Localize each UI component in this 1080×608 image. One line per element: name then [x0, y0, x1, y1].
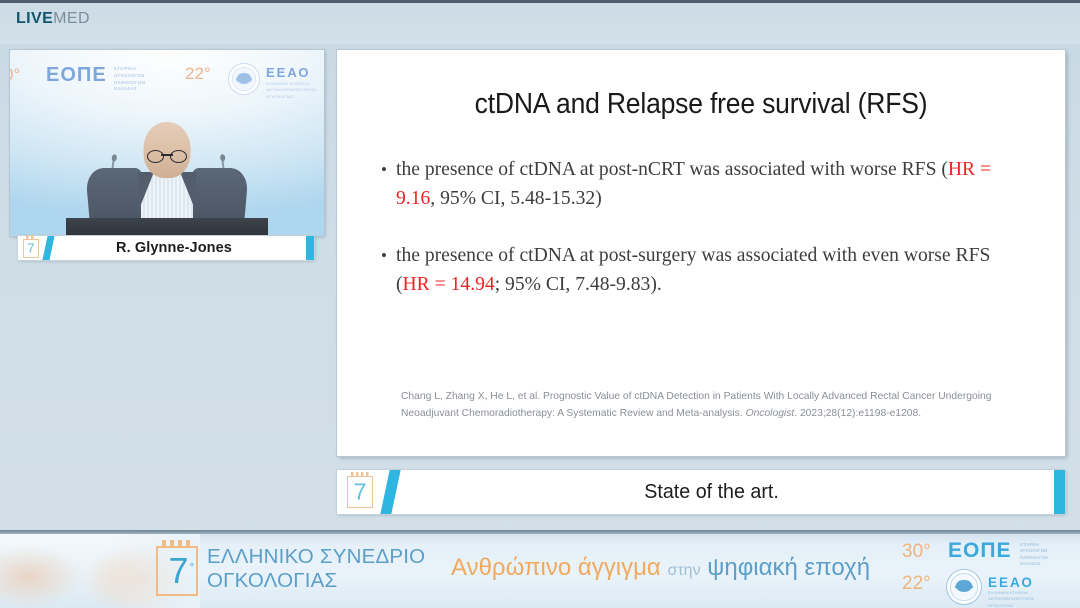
eeao-subtitle: ΕΛΛΗΝΙΚΗ ΕΤΑΙΡΕΙΑ ΑΚΤΙΝΟΘΕΡΑΠΕΥΤΙΚΗΣ ΟΓΚ…	[988, 590, 1034, 608]
eope-mark: ΕΟΠΕ	[948, 540, 1012, 561]
bullet-text-pre: the presence of ctDNA at post-nCRT was a…	[396, 159, 948, 180]
congress-title: ΕΛΛΗΝΙΚΟ ΣΥΝΕΔΡΙΟ ΟΓΚΟΛΟΓΙΑΣ	[207, 545, 425, 593]
slide-bullet-list: • the presence of ctDNA at post-nCRT was…	[381, 156, 1025, 328]
section-caption-bar: 7 State of the art.	[337, 470, 1065, 514]
theme-blue-text: ψηφιακή εποχή	[707, 554, 870, 581]
slide-title: ctDNA and Relapse free survival (RFS)	[362, 88, 1039, 121]
caption-accent-stripe	[380, 470, 400, 514]
footer-logo-eope: 30° ΕΟΠΕ ΕΤΑΙΡΕΙΑ ΟΓΚΟΛΟΓΩΝ ΠΑΘΟΛΟΓΩΝ ΕΛ…	[902, 540, 1072, 570]
top-divider	[0, 0, 1080, 3]
bullet-marker: •	[381, 156, 396, 214]
citation-part-two: . 2023;28(12):e1198-e1208.	[794, 408, 921, 419]
bullet-marker: •	[381, 242, 396, 300]
bullet-text: the presence of ctDNA at post-surgery wa…	[396, 242, 1025, 300]
eeao-edition-number: 22°	[902, 574, 931, 593]
crest-digit: 7	[348, 481, 372, 504]
bullet-text: the presence of ctDNA at post-nCRT was a…	[396, 156, 1025, 214]
backdrop-eope-mark: ΕΟΠΕ	[46, 65, 107, 85]
backdrop-right-number: 22°	[185, 65, 211, 82]
backdrop-eope-subtitle: ΕΤΑΙΡΕΙΑ ΟΓΚΟΛΟΓΩΝ ΠΑΘΟΛΟΓΩΝ ΕΛΛΑΔΑΣ	[114, 66, 145, 93]
crab-body-shape	[237, 73, 251, 84]
list-item: • the presence of ctDNA at post-nCRT was…	[381, 156, 1025, 214]
congress-theme: Ανθρώπινο άγγιγμα στην ψηφιακή εποχή	[451, 556, 870, 580]
video-backdrop-logos: 0° ΕΟΠΕ ΕΤΑΙΡΕΙΑ ΟΓΚΟΛΟΓΩΝ ΠΑΘΟΛΟΓΩΝ ΕΛΛ…	[10, 56, 324, 96]
backdrop-left-number: 0°	[10, 66, 20, 83]
backdrop-eeao-mark: ΕΕΑΟ	[266, 66, 311, 79]
congress-crest-degree: °	[190, 562, 194, 574]
crest-icon: 7	[347, 476, 373, 508]
footer-logo-group: 30° ΕΟΠΕ ΕΤΑΙΡΕΙΑ ΟΓΚΟΛΟΓΩΝ ΠΑΘΟΛΟΓΩΝ ΕΛ…	[902, 538, 1072, 604]
eeao-mark: ΕΕΑΟ	[988, 576, 1034, 590]
speaker-video[interactable]: 0° ΕΟΠΕ ΕΤΑΙΡΕΙΑ ΟΓΚΟΛΟΓΩΝ ΠΑΘΟΛΟΓΩΝ ΕΛΛ…	[10, 50, 324, 236]
congress-footer-banner: 7 ° ΕΛΛΗΝΙΚΟ ΣΥΝΕΔΡΙΟ ΟΓΚΟΛΟΓΙΑΣ Ανθρώπι…	[0, 530, 1080, 608]
theme-small-text: στην	[667, 562, 700, 579]
bullet-text-post: ; 95% CI, 7.48-9.83).	[495, 274, 662, 295]
backdrop-eeao-subtitle: ΕΛΛΗΝΙΚΗ ΕΤΑΙΡΕΙΑ ΑΚΤΙΝΟΘΕΡΑΠΕΥΤΙΚΗΣ ΟΓΚ…	[266, 81, 316, 100]
crest-digit: 7	[24, 242, 38, 255]
logo-live-text: LIVE	[16, 10, 53, 27]
podium	[66, 218, 268, 236]
caption-endcap	[1054, 470, 1065, 514]
congress-crest-icon: 7 °	[156, 546, 198, 596]
slide-citation: Chang L, Zhang X, He L, et al. Prognosti…	[401, 389, 1019, 422]
crest-icon: 7	[23, 239, 39, 258]
speaker-collar-right	[180, 172, 196, 212]
caption-label: State of the art.	[409, 480, 1041, 504]
badge-endcap	[306, 236, 314, 260]
logo-med-text: MED	[53, 10, 90, 27]
bullet-hazard-ratio: HR = 14.94	[403, 274, 495, 295]
eope-edition-number: 30°	[902, 542, 931, 561]
crab-body-shape	[956, 580, 972, 592]
speaker-name-badge: 7 R. Glynne-Jones	[18, 236, 314, 260]
badge-crest-logo: 7	[18, 236, 44, 260]
bullet-text-post: , 95% CI, 5.48-15.32)	[430, 188, 601, 209]
list-item: • the presence of ctDNA at post-surgery …	[381, 242, 1025, 300]
caption-crest-logo: 7	[337, 470, 383, 514]
player-page: LIVEMED 0° ΕΟΠΕ ΕΤΑΙΡΕΙΑ ΟΓΚΟΛΟΓΩΝ ΠΑΘΟΛ…	[0, 0, 1080, 608]
speaker-collar-left	[138, 172, 154, 212]
glasses-bridge	[161, 154, 173, 156]
crab-seal-icon	[228, 63, 260, 95]
theme-orange-text: Ανθρώπινο άγγιγμα	[451, 554, 661, 581]
crab-seal-icon	[946, 569, 982, 605]
slide-panel[interactable]: ctDNA and Relapse free survival (RFS) • …	[337, 50, 1065, 456]
speaker-name-label: R. Glynne-Jones	[52, 240, 306, 256]
citation-journal: Oncologist	[746, 408, 795, 419]
top-bar: LIVEMED	[0, 0, 1080, 44]
footer-logo-eeao: 22° ΕΕΑΟ ΕΛΛΗΝΙΚΗ ΕΤΑΙΡΕΙΑ ΑΚΤΙΝΟΘΕΡΑΠΕΥ…	[902, 572, 1072, 602]
livemed-logo[interactable]: LIVEMED	[16, 11, 90, 27]
eope-subtitle: ΕΤΑΙΡΕΙΑ ΟΓΚΟΛΟΓΩΝ ΠΑΘΟΛΟΓΩΝ ΕΛΛΑΔΑΣ	[1020, 542, 1048, 568]
